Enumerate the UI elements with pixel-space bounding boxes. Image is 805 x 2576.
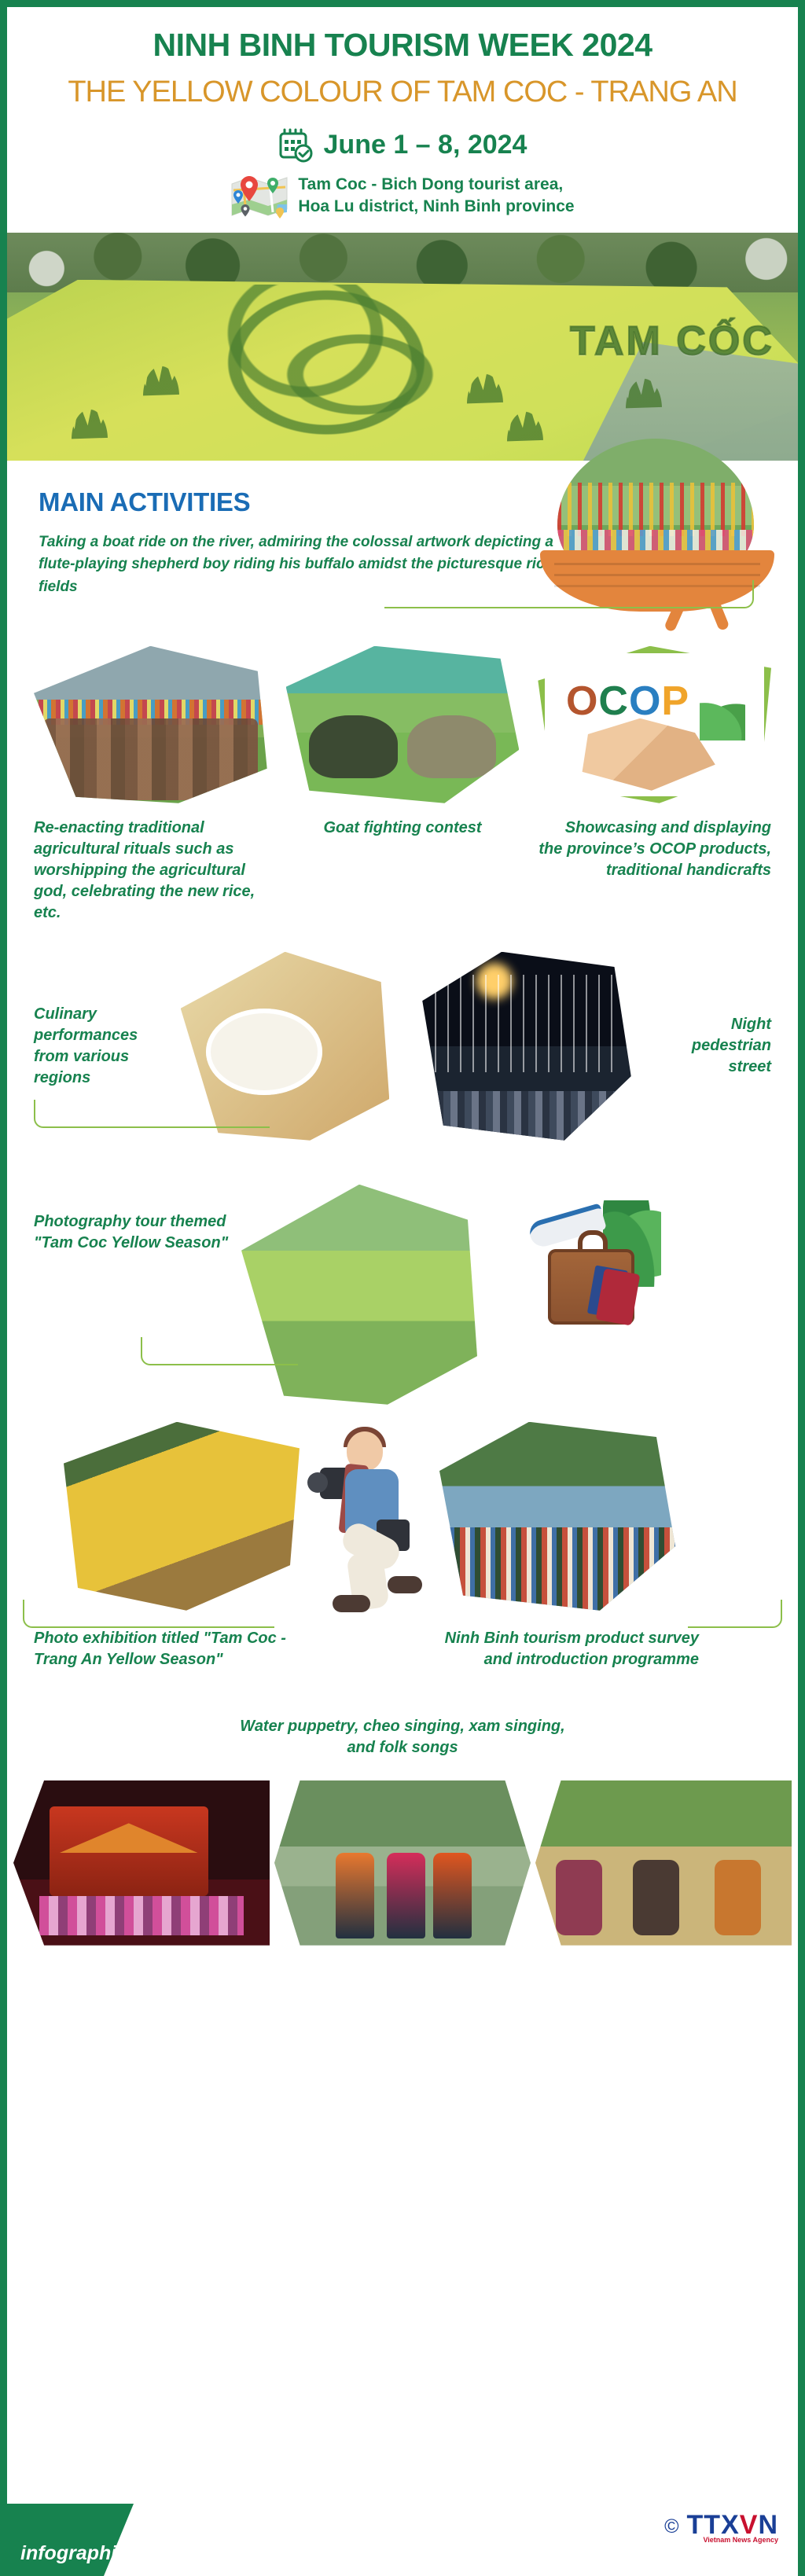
xam-singing-photo [535,1780,792,1946]
street-light-strings [435,975,619,1073]
xam-performer-1 [556,1860,602,1936]
activity-caption-photo-exhibition: Photo exhibition titled "Tam Coc - Trang… [34,1628,293,1670]
hero-buffalo-artwork [197,285,456,458]
ttxvn-logo: TTXVN [687,2510,778,2541]
culinary-plate [206,1009,323,1095]
performances-caption-line1: Water puppetry, cheo singing, xam singin… [34,1716,771,1737]
survey-photo-crowd [439,1527,675,1611]
activities-row-4: Photo exhibition titled "Tam Coc - Trang… [7,1405,798,1670]
activity-caption-night-street: Night pedestrian street [660,1014,771,1078]
performances-photo-row [7,1780,798,1946]
infographic-poster: NINH BINH TOURISM WEEK 2024 THE YELLOW C… [0,0,805,2576]
tourism-survey-photo [439,1422,675,1611]
activity-card-tourism-survey: Ninh Binh tourism product survey and int… [439,1422,699,1670]
activities-row-2: Culinary performances from various regio… [7,924,798,1141]
goat-fighting-photo [286,646,520,803]
ocop-parcel-boxes [571,718,715,791]
divider-rule-5 [688,1600,782,1628]
activity-card-photo-exhibition: Photo exhibition titled "Tam Coc - Trang… [34,1422,293,1670]
ocop-products-photo: OCOP [538,646,771,803]
page-subtitle: THE YELLOW COLOUR OF TAM COC - TRANG AN [39,75,766,110]
page-title: NINH BINH TOURISM WEEK 2024 [39,28,766,63]
calendar-check-icon [278,127,313,164]
poster-footer: infographics.vn © TTXVN Vietnam News Age… [0,2504,805,2576]
poster-header: NINH BINH TOURISM WEEK 2024 THE YELLOW C… [7,7,798,222]
boat-photo-flags [557,483,754,536]
xam-performer-2 [633,1860,679,1936]
ocop-leaf-icon [700,700,745,740]
activities-row-1: Re-enacting traditional agricultural rit… [7,626,798,924]
activity-card-ritual: Re-enacting traditional agricultural rit… [34,646,267,924]
goat-2 [407,715,496,778]
event-meta: June 1 – 8, 2024 [39,127,766,219]
yellow-field-photo [64,1422,300,1611]
photographer-shoe-front [388,1576,422,1593]
hero-artwork-label: TAM CỐC [570,318,774,365]
divider-rule-2 [34,1100,270,1128]
ocop-logo: OCOP [566,678,689,725]
puppet-figures [39,1896,244,1935]
event-date-row: June 1 – 8, 2024 [278,127,527,164]
xam-performer-3 [715,1860,761,1936]
event-date: June 1 – 8, 2024 [324,130,527,160]
performances-caption-line2: and folk songs [34,1737,771,1758]
divider-rule-3 [141,1337,298,1365]
cheo-singer-2 [387,1853,425,1938]
ritual-photo [34,646,267,803]
street-crowd [422,1091,631,1140]
event-location-line1: Tam Coc - Bich Dong tourist area, [298,175,563,193]
activity-caption-culinary: Culinary performances from various regio… [34,1004,168,1089]
suitcase-airplane-icon [521,1196,663,1329]
hero-rice-field-image: TAM CỐC [7,233,798,461]
event-location-line2: Hoa Lu district, Ninh Binh province [298,197,574,215]
ritual-photo-people [43,718,258,800]
map-pin-icon [230,173,289,219]
activity-caption-photo-tour: Photography tour themed "Tam Coc Yellow … [34,1211,230,1254]
cheo-singer-1 [336,1853,374,1938]
photographer-kneeling-icon [301,1427,435,1623]
photographer-shoe-back [333,1595,370,1612]
goat-1 [309,715,398,778]
cheo-singing-photo [274,1780,531,1946]
cheo-singer-3 [433,1853,472,1938]
divider-rule-1 [384,580,754,608]
suitcase-handle [578,1230,608,1251]
photography-tour-photo [241,1185,477,1405]
event-location-row: Tam Coc - Bich Dong tourist area, Hoa Lu… [230,173,574,219]
main-activities-section: MAIN ACTIVITIES Taking a boat ride on th… [7,461,798,626]
activity-card-goat: Goat fighting contest [286,646,520,839]
activity-caption-ocop: Showcasing and displaying the province’s… [538,818,771,881]
activity-card-ocop: OCOP Showcasing and displaying the provi… [538,646,771,881]
activity-caption-goat: Goat fighting contest [286,818,520,839]
divider-rule-4 [23,1600,274,1628]
footer-logo-group: © TTXVN Vietnam News Agency [664,2510,778,2544]
activity-caption-ritual: Re-enacting traditional agricultural rit… [34,818,267,924]
water-puppetry-photo [13,1780,270,1946]
night-street-photo [422,952,631,1141]
copyright-icon: © [664,2515,678,2538]
footer-site-name: infographics.vn [20,2542,167,2565]
activity-caption-tourism-survey: Ninh Binh tourism product survey and int… [439,1628,699,1670]
activities-row-3: Photography tour themed "Tam Coc Yellow … [7,1141,798,1405]
event-location: Tam Coc - Bich Dong tourist area, Hoa Lu… [298,174,574,217]
performances-section: Water puppetry, cheo singing, xam singin… [7,1670,798,1758]
